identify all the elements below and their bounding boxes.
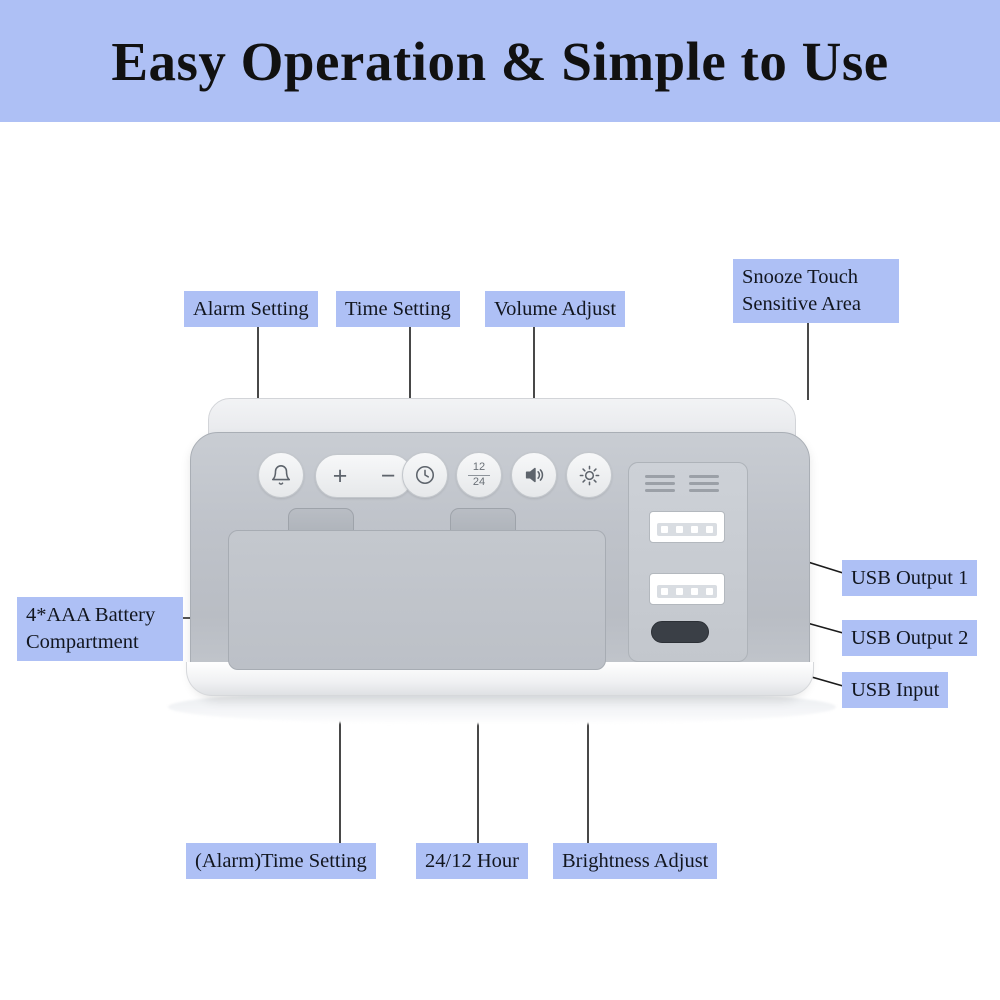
callout-alarm-time-setting-label: (Alarm)Time Setting (195, 850, 367, 872)
volume-adjust-button[interactable] (511, 452, 557, 498)
usb-pin (706, 526, 713, 533)
callout-battery-compartment: 4*AAA Battery Compartment (17, 597, 183, 661)
time-setting-button[interactable] (402, 452, 448, 498)
bell-icon (270, 464, 292, 486)
sun-icon (578, 464, 601, 487)
usb-pin (661, 588, 668, 595)
callout-alarm-setting-label: Alarm Setting (193, 298, 309, 320)
callout-alarm-time-setting: (Alarm)Time Setting (186, 843, 376, 879)
brightness-adjust-button[interactable] (566, 452, 612, 498)
vent-grille-right (689, 475, 719, 492)
usb-output-2-port[interactable] (649, 573, 725, 605)
usb-tongue (657, 585, 717, 598)
callout-volume-adjust-label: Volume Adjust (494, 298, 616, 320)
callout-time-setting: Time Setting (336, 291, 460, 327)
callout-hour-format: 24/12 Hour (416, 843, 528, 879)
callout-usb-output-1: USB Output 1 (842, 560, 977, 596)
usb-output-1-port[interactable] (649, 511, 725, 543)
usb-pin (676, 588, 683, 595)
device-illustration: + − 12 24 (150, 390, 850, 730)
callout-hour-format-label: 24/12 Hour (425, 850, 519, 872)
callout-usb-output-1-label: USB Output 1 (851, 567, 968, 589)
vent-line (645, 475, 675, 478)
format-top-label: 12 (468, 462, 490, 473)
vent-line (645, 489, 675, 492)
battery-compartment-door[interactable] (228, 530, 606, 670)
usb-tongue (657, 523, 717, 536)
hour-format-button[interactable]: 12 24 (456, 452, 502, 498)
usb-pin (661, 526, 668, 533)
speaker-icon (523, 464, 545, 486)
vent-line (689, 475, 719, 478)
minus-icon[interactable]: − (381, 462, 396, 491)
usb-input-port[interactable] (651, 621, 709, 643)
callout-usb-input-label: USB Input (851, 679, 939, 701)
usb-pin (676, 526, 683, 533)
callout-usb-output-2: USB Output 2 (842, 620, 977, 656)
alarm-setting-button[interactable] (258, 452, 304, 498)
usb-pin (691, 588, 698, 595)
callout-brightness-adjust-label: Brightness Adjust (562, 850, 708, 872)
alarm-time-setting-button[interactable]: + − (315, 454, 413, 498)
plus-icon[interactable]: + (333, 462, 348, 491)
diagram-canvas: Easy Operation & Simple to Use (0, 0, 1000, 1000)
callout-volume-adjust: Volume Adjust (485, 291, 625, 327)
vent-grille-left (645, 475, 675, 492)
callout-brightness-adjust: Brightness Adjust (553, 843, 717, 879)
usb-pin (691, 526, 698, 533)
vent-line (689, 489, 719, 492)
format-bottom-label: 24 (468, 477, 490, 488)
clock-icon (414, 464, 436, 486)
vent-line (645, 482, 675, 485)
vent-line (689, 482, 719, 485)
callout-usb-output-2-label: USB Output 2 (851, 627, 968, 649)
12-24-label: 12 24 (468, 462, 490, 488)
callout-snooze-touch: Snooze Touch Sensitive Area (733, 259, 899, 323)
callout-time-setting-label: Time Setting (345, 298, 451, 320)
callout-usb-input: USB Input (842, 672, 948, 708)
callout-snooze-touch-label: Snooze Touch Sensitive Area (742, 266, 861, 315)
usb-pin (706, 588, 713, 595)
callout-battery-compartment-label: 4*AAA Battery Compartment (26, 604, 155, 653)
port-panel (628, 462, 748, 662)
callout-alarm-setting: Alarm Setting (184, 291, 318, 327)
